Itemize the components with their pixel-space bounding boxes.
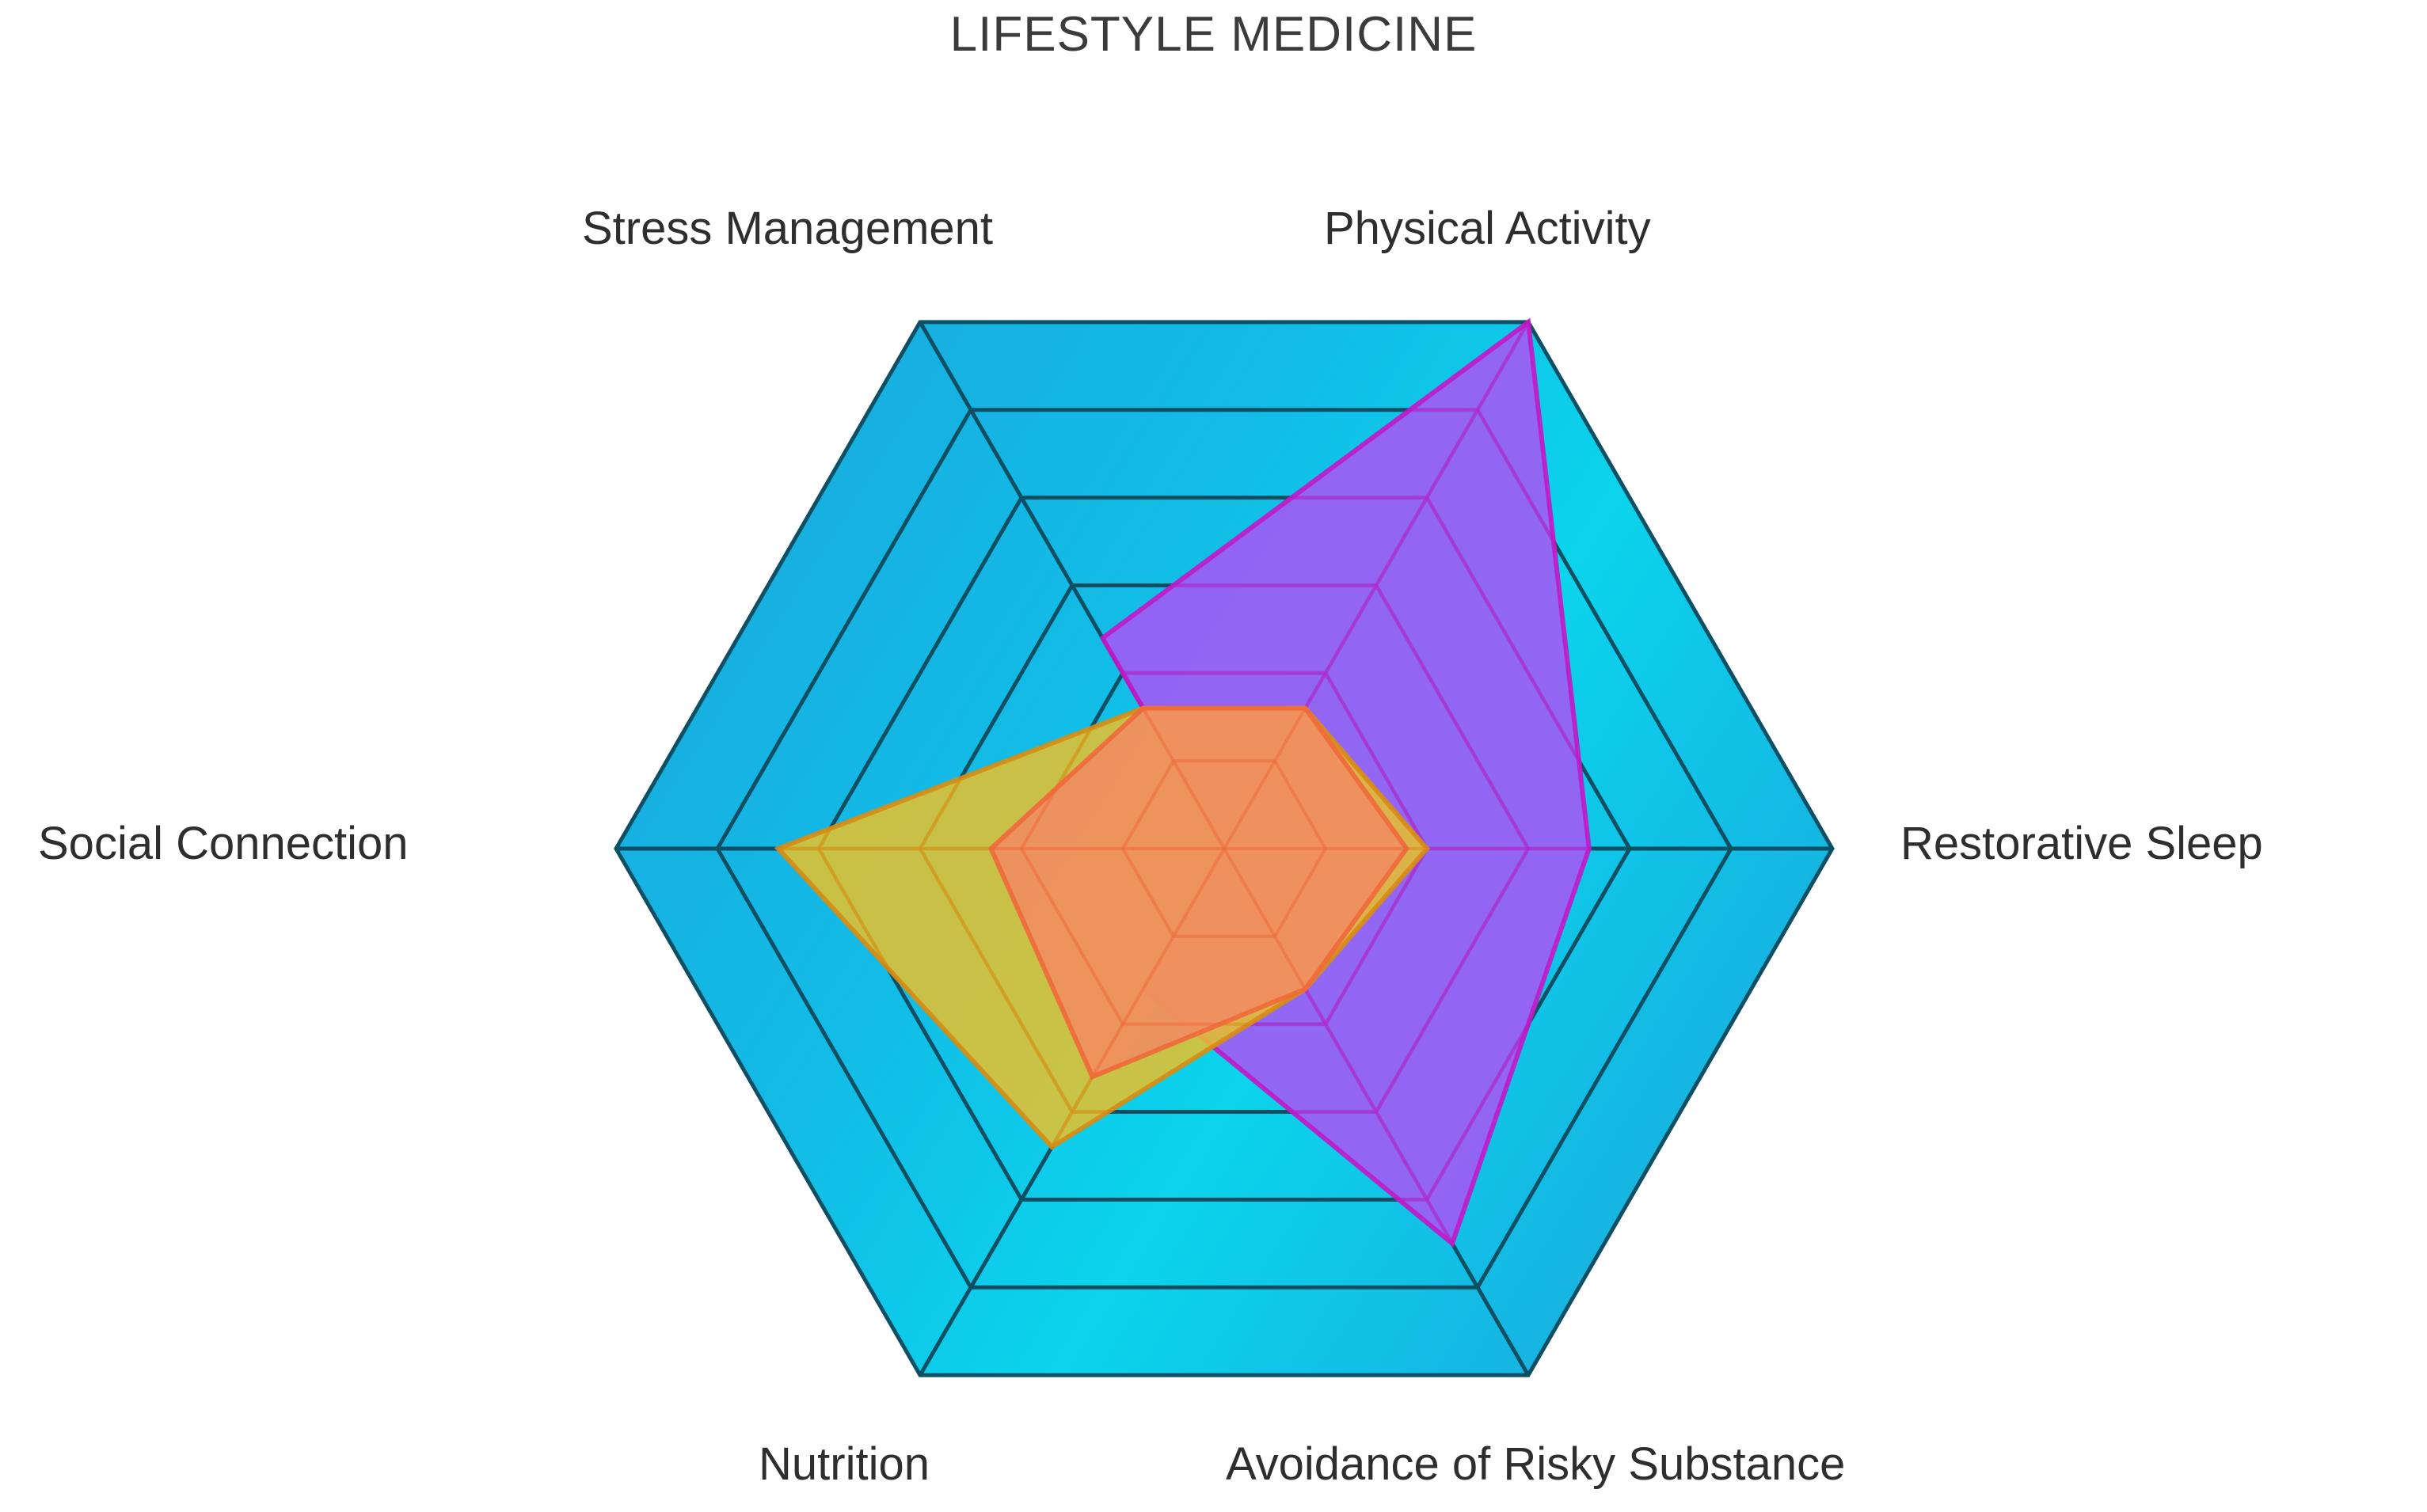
axis-label-restorative-sleep: Restorative Sleep [1900, 817, 2263, 870]
axis-label-stress-management: Stress Management [582, 202, 993, 255]
axis-label-social-connection: Social Connection [38, 817, 409, 870]
axis-label-nutrition: Nutrition [759, 1438, 930, 1491]
radar-plot-area [0, 0, 2427, 1512]
axis-label-physical-activity: Physical Activity [1324, 202, 1651, 255]
axis-label-avoidance-of-risky-substance: Avoidance of Risky Substance [1226, 1438, 1845, 1491]
radar-chart: LIFESTYLE MEDICINE Stress Management Phy… [0, 0, 2427, 1512]
